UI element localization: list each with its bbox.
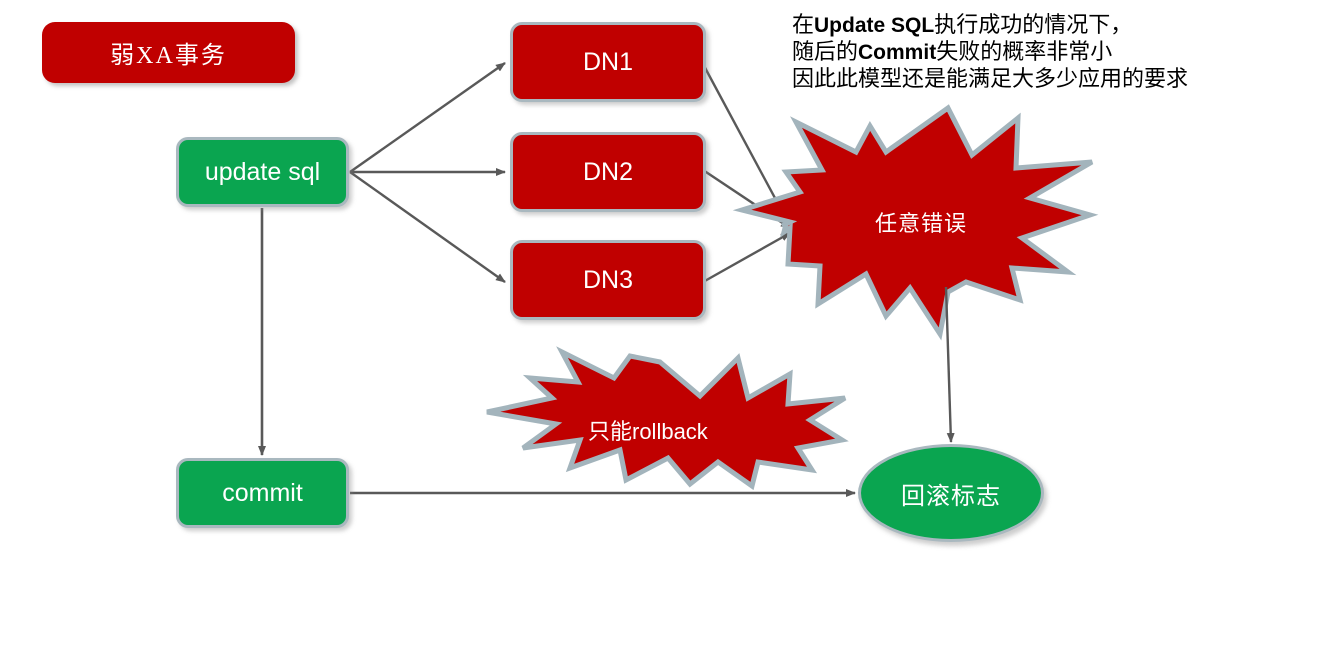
node-dn3-label: DN3 xyxy=(583,266,633,295)
title-badge: 弱XA事务 xyxy=(42,22,295,83)
diagram-canvas: 弱XA事务 在Update SQL执行成功的情况下， 随后的Commit失败的概… xyxy=(0,0,1330,649)
note-line-1-suffix: 执行成功的情况下， xyxy=(934,12,1132,37)
node-rollback-flag[interactable]: 回滚标志 xyxy=(858,444,1044,542)
note-text-block: 在Update SQL执行成功的情况下， 随后的Commit失败的概率非常小 因… xyxy=(792,12,1188,92)
node-dn3[interactable]: DN3 xyxy=(510,240,706,320)
note-line-3: 因此此模型还是能满足大多少应用的要求 xyxy=(792,66,1188,92)
node-dn2[interactable]: DN2 xyxy=(510,132,706,212)
title-badge-label: 弱XA事务 xyxy=(110,35,227,70)
note-line-3-prefix: 因此此模型还是能满足大多少应用的要求 xyxy=(792,66,1188,91)
error-star-shape xyxy=(742,108,1092,334)
node-commit[interactable]: commit xyxy=(176,458,349,528)
note-line-2-suffix: 失败的概率非常小 xyxy=(936,39,1112,64)
note-line-2-prefix: 随后的 xyxy=(792,39,858,64)
node-rollback-flag-label: 回滚标志 xyxy=(901,476,1001,511)
note-line-1: 在Update SQL执行成功的情况下， xyxy=(792,12,1188,39)
node-commit-label: commit xyxy=(222,479,303,508)
node-dn1[interactable]: DN1 xyxy=(510,22,706,102)
note-line-2: 随后的Commit失败的概率非常小 xyxy=(792,39,1188,66)
node-dn2-label: DN2 xyxy=(583,158,633,187)
note-line-2-emphasis: Commit xyxy=(858,41,936,64)
node-update-sql[interactable]: update sql xyxy=(176,137,349,207)
node-update-sql-label: update sql xyxy=(205,158,320,187)
node-dn1-label: DN1 xyxy=(583,48,633,77)
edge-error-star-rollbackflag xyxy=(946,287,951,442)
rollback-star-shape xyxy=(487,352,845,486)
note-line-1-emphasis: Update SQL xyxy=(814,14,934,37)
note-line-1-prefix: 在 xyxy=(792,12,814,37)
